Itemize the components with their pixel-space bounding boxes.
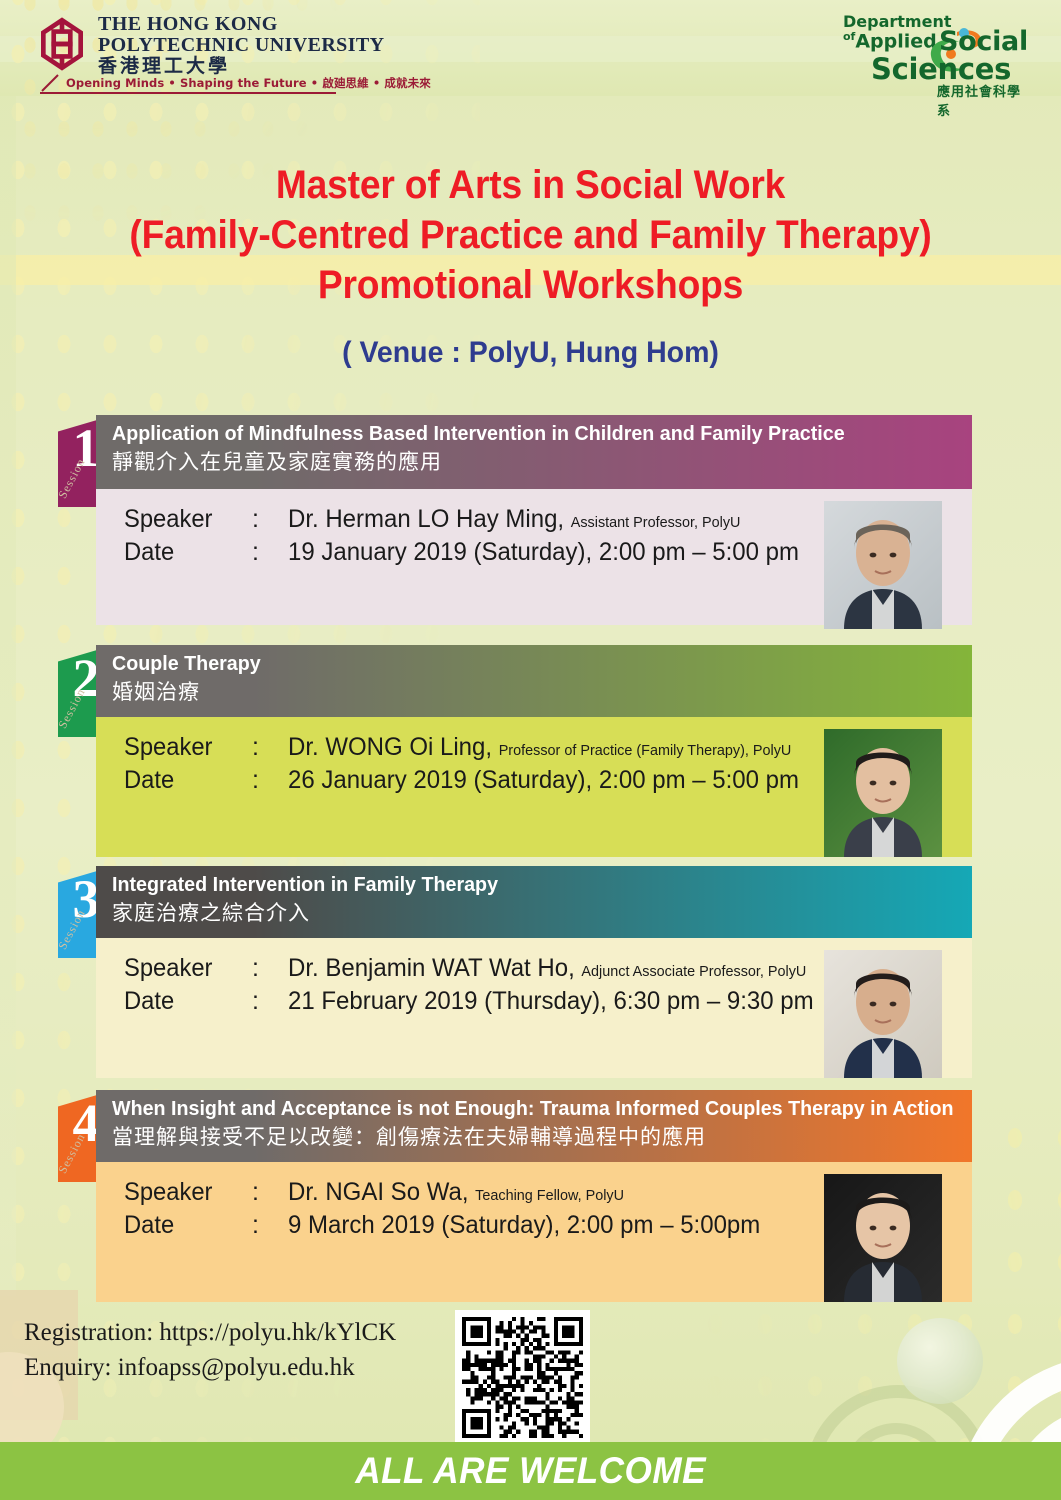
qr-code[interactable]	[455, 1310, 590, 1445]
qr-code-canvas[interactable]	[462, 1317, 583, 1438]
welcome-banner: ALL ARE WELCOME	[0, 1442, 1061, 1500]
speaker-photo-herman-lo	[824, 501, 942, 629]
session-title-zh-4: 當理解與接受不足以改變：創傷療法在夫婦輔導過程中的應用	[112, 1125, 972, 1150]
apss-line-applied: ofApplied	[843, 30, 937, 52]
welcome-text: ALL ARE WELCOME	[355, 1450, 706, 1492]
title-line-3: Promotional Workshops	[37, 260, 1024, 310]
speaker-colon-4: :	[252, 1178, 288, 1207]
speaker-label-1: Speaker	[124, 505, 246, 534]
speaker-label-2: Speaker	[124, 733, 246, 762]
date-value-4: 9 March 2019 (Saturday), 2:00 pm – 5:00p…	[288, 1211, 760, 1240]
session-panel-3: 3 Session Integrated Intervention in Fam…	[96, 866, 972, 1078]
speaker-photo-wong-oi-ling	[824, 729, 942, 857]
session-header-4: When Insight and Acceptance is not Enoug…	[96, 1090, 972, 1162]
speaker-affiliation-2: Professor of Practice (Family Therapy), …	[499, 742, 792, 759]
date-value-2: 26 January 2019 (Saturday), 2:00 pm – 5:…	[288, 766, 799, 795]
session-panel-4: 4 Session When Insight and Acceptance is…	[96, 1090, 972, 1302]
session-title-zh-1: 靜觀介入在兒童及家庭實務的應用	[112, 450, 972, 475]
apss-logo: Department ofApplied Social Sciences 應用社…	[827, 8, 1027, 92]
session-title-en-1: Application of Mindfulness Based Interve…	[112, 422, 938, 446]
venue-text: ( Venue : PolyU, Hung Hom)	[27, 336, 1035, 370]
date-value-1: 19 January 2019 (Saturday), 2:00 pm – 5:…	[288, 538, 799, 567]
polyu-logo: THE HONG KONG POLYTECHNIC UNIVERSITY 香港理…	[36, 14, 384, 76]
session-header-3: Integrated Intervention in Family Therap…	[96, 866, 972, 938]
speaker-affiliation-3: Adjunct Associate Professor, PolyU	[581, 963, 806, 980]
polyu-name-line1: THE HONG KONG	[98, 14, 384, 34]
speaker-colon-1: :	[252, 505, 288, 534]
speaker-value-1: Dr. Herman LO Hay Ming, Assistant Profes…	[288, 505, 740, 534]
registration-url-line[interactable]: Registration: https://polyu.hk/kYlCK	[24, 1316, 396, 1351]
polyu-rule-line	[40, 92, 336, 94]
date-label-4: Date	[124, 1211, 246, 1240]
speaker-photo-ngai-so-wa	[824, 1174, 942, 1302]
session-panel-2: 2 Session Couple Therapy 婚姻治療 Speaker : …	[96, 645, 972, 857]
session-title-en-3: Integrated Intervention in Family Therap…	[112, 873, 938, 897]
speaker-label-4: Speaker	[124, 1178, 246, 1207]
enquiry-email-line[interactable]: Enquiry: infoapss@polyu.edu.hk	[24, 1351, 396, 1386]
date-label-1: Date	[124, 538, 246, 567]
polyu-name-line2: POLYTECHNIC UNIVERSITY	[98, 35, 384, 55]
speaker-colon-3: :	[252, 954, 288, 983]
date-value-3: 21 February 2019 (Thursday), 6:30 pm – 9…	[288, 987, 814, 1016]
polyu-tagline-wrap: Opening Minds • Shaping the Future • 啟廸思…	[40, 74, 431, 92]
page-title: Master of Arts in Social Work (Family-Ce…	[0, 160, 1061, 310]
session-header-1: Application of Mindfulness Based Interve…	[96, 415, 972, 489]
polyu-tagline: Opening Minds • Shaping the Future • 啟廸思…	[66, 75, 431, 91]
session-header-2: Couple Therapy 婚姻治療	[96, 645, 972, 717]
date-colon-4: :	[252, 1211, 288, 1240]
speaker-value-4: Dr. NGAI So Wa, Teaching Fellow, PolyU	[288, 1178, 624, 1207]
date-colon-1: :	[252, 538, 288, 567]
polyu-wordmark: THE HONG KONG POLYTECHNIC UNIVERSITY 香港理…	[98, 14, 384, 76]
header-logo-bar: THE HONG KONG POLYTECHNIC UNIVERSITY 香港理…	[0, 0, 1061, 96]
registration-block: Registration: https://polyu.hk/kYlCK Enq…	[24, 1316, 396, 1385]
apss-applied: Applied	[855, 30, 936, 52]
slash-icon	[40, 74, 62, 92]
date-colon-3: :	[252, 987, 288, 1016]
date-label-3: Date	[124, 987, 246, 1016]
session-panel-1: 1 Session Application of Mindfulness Bas…	[96, 415, 972, 625]
speaker-value-2: Dr. WONG Oi Ling, Professor of Practice …	[288, 733, 791, 762]
polyu-emblem-icon	[36, 16, 88, 72]
date-colon-2: :	[252, 766, 288, 795]
session-title-en-2: Couple Therapy	[112, 652, 938, 676]
speaker-label-3: Speaker	[124, 954, 246, 983]
speaker-affiliation-4: Teaching Fellow, PolyU	[475, 1187, 624, 1204]
session-title-zh-2: 婚姻治療	[112, 680, 972, 705]
session-title-en-4: When Insight and Acceptance is not Enoug…	[112, 1097, 938, 1121]
date-label-2: Date	[124, 766, 246, 795]
title-line-1: Master of Arts in Social Work	[37, 160, 1024, 210]
speaker-affiliation-1: Assistant Professor, PolyU	[571, 514, 741, 531]
poster-root: THE HONG KONG POLYTECHNIC UNIVERSITY 香港理…	[0, 0, 1061, 1500]
speaker-value-3: Dr. Benjamin WAT Wat Ho, Adjunct Associa…	[288, 954, 806, 983]
apss-of: of	[843, 30, 855, 43]
decorative-sphere	[897, 1318, 983, 1404]
apss-name-chinese: 應用社會科學系	[937, 81, 1027, 119]
session-title-zh-3: 家庭治療之綜合介入	[112, 901, 972, 926]
speaker-photo-benjamin-wat	[824, 950, 942, 1078]
title-line-2: (Family-Centred Practice and Family Ther…	[37, 210, 1024, 260]
speaker-colon-2: :	[252, 733, 288, 762]
